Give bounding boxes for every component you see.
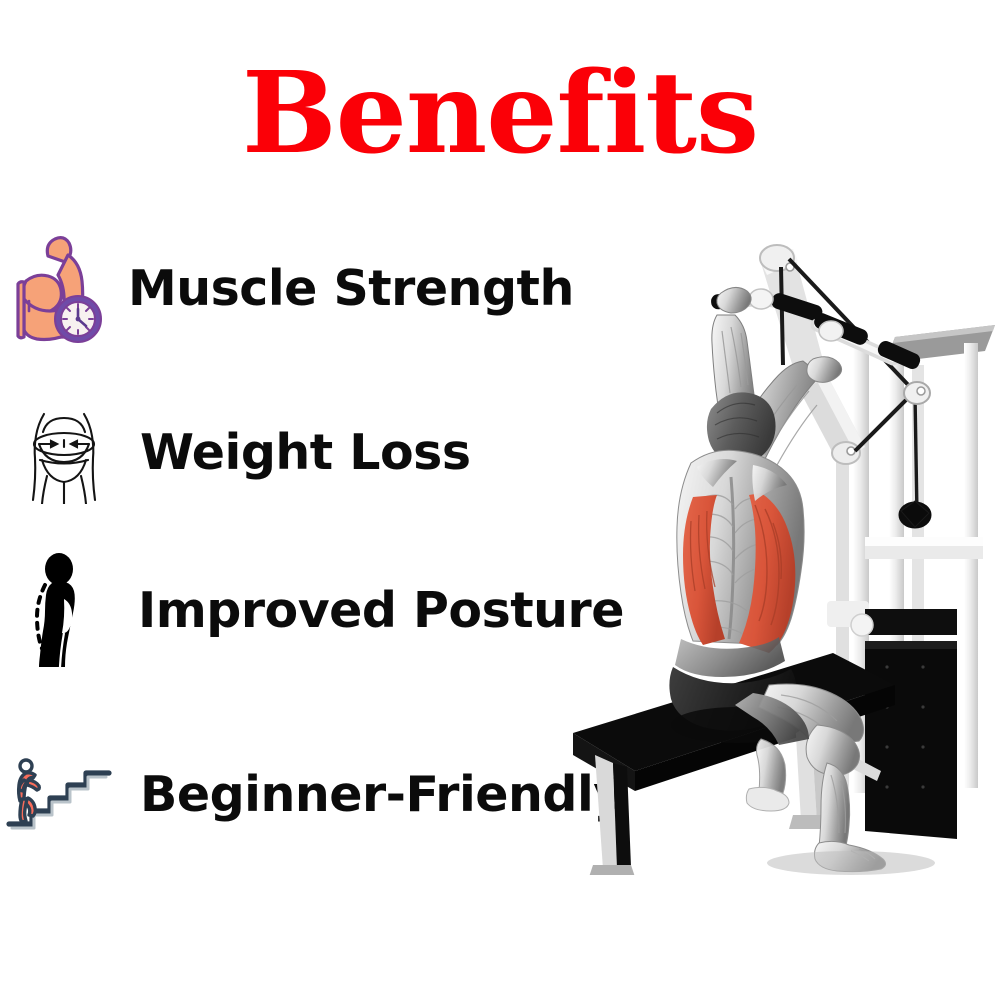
clock-glyph [55,296,101,342]
standing-posture-spine-icon [12,551,116,669]
weight-stack [851,609,957,839]
benefit-item-weight-loss: Weight Loss [14,392,471,512]
lat-pulldown-illustration [565,215,1000,875]
person-climbing-stairs-icon [6,754,118,834]
page-title: Benefits [0,58,1000,170]
flexed-bicep-clock-icon [12,229,116,347]
benefit-label-muscle-strength: Muscle Strength [128,264,574,313]
benefit-label-improved-posture: Improved Posture [138,586,624,635]
benefit-item-muscle-strength: Muscle Strength [12,228,574,348]
infographic-canvas: Benefits [0,0,1000,1000]
slimming-waist-icon [14,400,114,504]
benefit-label-beginner-friendly: Beginner-Friendly [140,770,625,819]
benefit-item-improved-posture: Improved Posture [12,550,624,670]
benefit-item-beginner-friendly: Beginner-Friendly [6,734,625,854]
benefit-label-weight-loss: Weight Loss [140,428,471,477]
